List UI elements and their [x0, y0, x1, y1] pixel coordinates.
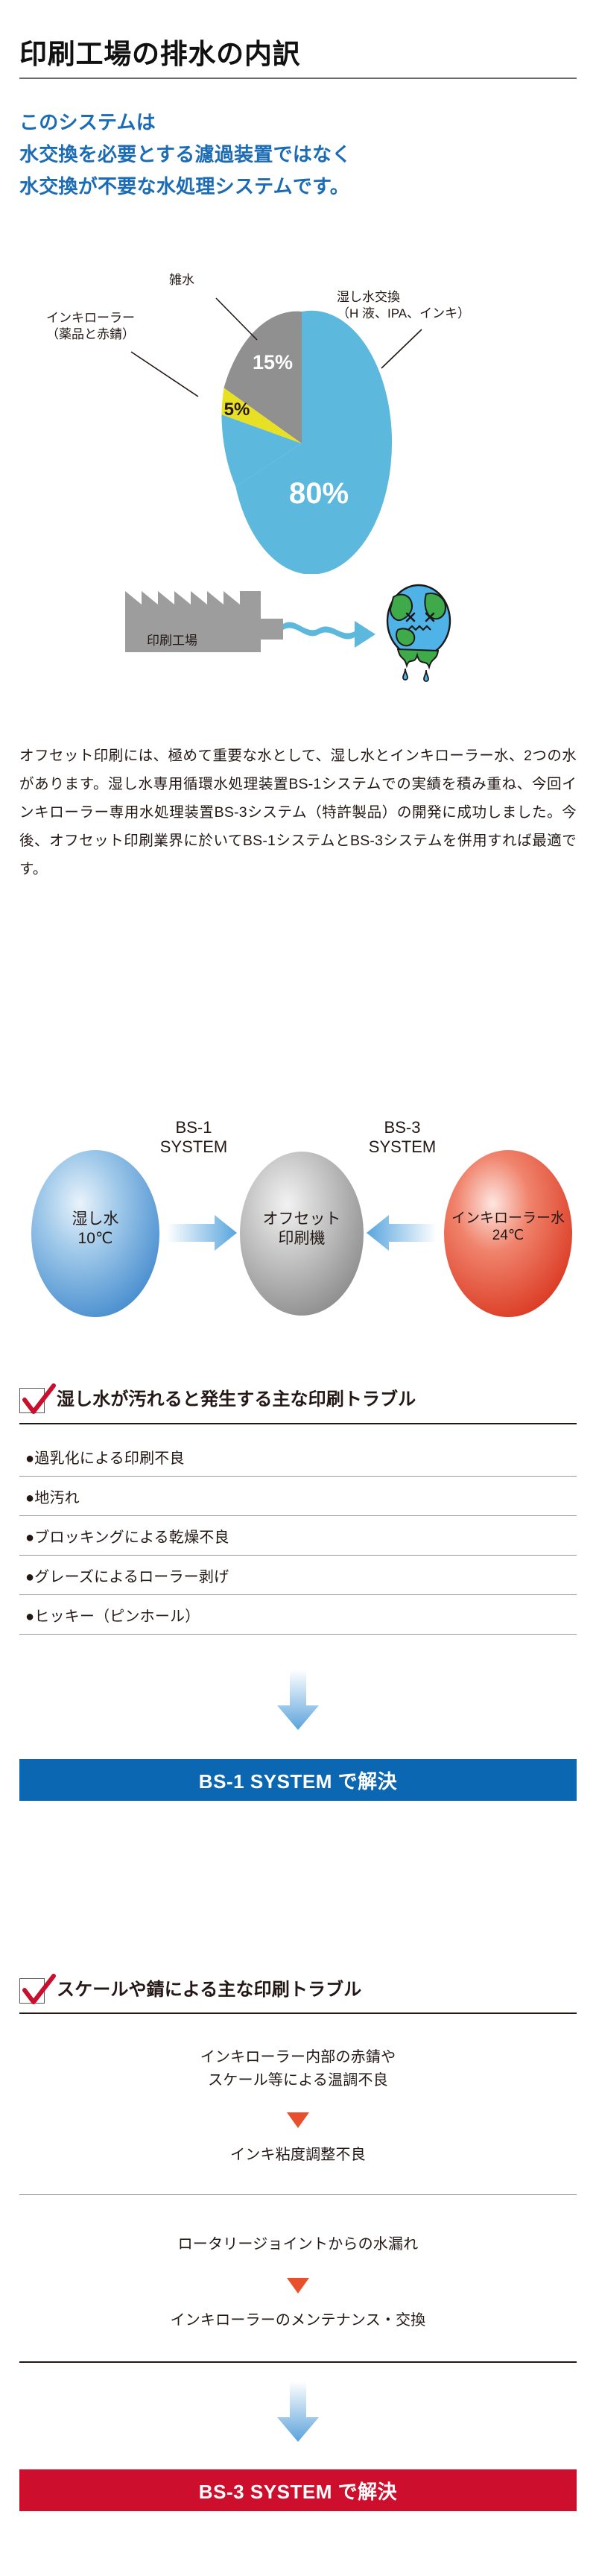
- leader-line-yellow: [131, 352, 198, 397]
- table-row: ●過乳化による印刷不良: [19, 1437, 577, 1477]
- intro-line-3: 水交換が不要な水処理システムです。: [19, 174, 577, 200]
- scale-flow-step-2: ロータリージョイントからの水漏れ: [0, 2233, 596, 2256]
- pie-label-ink-roller: インキローラー （薬品と赤錆）: [46, 310, 135, 343]
- bs1-system-caption: BS-1 SYSTEM: [149, 1118, 238, 1157]
- scale-section-heading: スケールや錆による主な印刷トラブル: [10, 1974, 577, 2008]
- intro-line-2: 水交換を必要とする濾過装置ではなく: [19, 142, 577, 168]
- red-triangle-icon: [287, 2112, 309, 2129]
- pie-label-ink-roller-line1: インキローラー: [46, 310, 135, 326]
- scale-flow-step-1: インキ粘度調整不良: [0, 2144, 596, 2167]
- node-offset-press: [240, 1152, 364, 1316]
- pie-label-zassui: 雑水: [169, 272, 194, 288]
- melting-earth-icon: [387, 585, 450, 681]
- damp-item-2: ●ブロッキングによる乾燥不良: [25, 1525, 229, 1547]
- down-arrow-icon: [276, 2381, 320, 2443]
- intro-line-1: このシステムは: [19, 110, 577, 136]
- scale-flow-divider: [19, 2194, 577, 2195]
- red-triangle-icon: [287, 2278, 309, 2294]
- scale-flow-step-3: インキローラーのメンテナンス・交換: [0, 2309, 596, 2332]
- check-mark-icon: [18, 1383, 60, 1416]
- header-divider: [19, 78, 577, 79]
- arrow-left-icon: [367, 1215, 437, 1251]
- damp-item-4: ●ヒッキー（ピンホール）: [25, 1604, 200, 1626]
- scale-section-bottom-divider: [19, 2361, 577, 2363]
- damp-heading-divider: [19, 1423, 577, 1424]
- damp-item-1: ●地汚れ: [25, 1486, 80, 1507]
- table-row: ●地汚れ: [19, 1477, 577, 1516]
- body-paragraph: オフセット印刷には、極めて重要な水として、湿し水とインキローラー水、2つの水があ…: [19, 742, 577, 883]
- node-damping-water: [31, 1150, 159, 1317]
- pie-label-damping-water-line2: （H 液、IPA、インキ）: [337, 306, 470, 322]
- page-title: 印刷工場の排水の内訳: [19, 39, 577, 69]
- wavy-water-arrow-icon: [283, 621, 375, 648]
- pie-value-yellow: 5%: [224, 400, 250, 420]
- page-header: 印刷工場の排水の内訳: [19, 39, 577, 79]
- damp-item-0: ●過乳化による印刷不良: [25, 1446, 185, 1468]
- pie-value-gray: 15%: [253, 351, 293, 373]
- pie-label-ink-roller-line2: （薬品と赤錆）: [46, 326, 135, 343]
- infographic-page: 印刷工場の排水の内訳 このシステムは 水交換を必要とする濾過装置ではなく 水交換…: [0, 0, 596, 2576]
- table-row: ●グレーズによるローラー剥げ: [19, 1556, 577, 1595]
- leader-line-gray: [216, 298, 257, 340]
- factory-earth-svg: [0, 578, 596, 682]
- table-row: ●ヒッキー（ピンホール）: [19, 1595, 577, 1635]
- system-diagram-svg: [0, 1066, 596, 1334]
- pie-chart-block: 15% 5% 80% 雑水 インキローラー （薬品と赤錆） 湿し水交換 （H 液…: [0, 268, 596, 574]
- damp-item-3: ●グレーズによるローラー剥げ: [25, 1565, 229, 1586]
- factory-earth-block: [0, 578, 596, 682]
- arrow-right-icon: [167, 1215, 237, 1251]
- pie-label-damping-water-line1: 湿し水交換: [337, 289, 470, 306]
- bs1-solution-banner[interactable]: BS-1 SYSTEM で解決: [19, 1759, 577, 1801]
- scale-section-title: スケールや錆による主な印刷トラブル: [57, 1978, 361, 2002]
- bs3-solution-banner-label: BS-3 SYSTEM で解決: [199, 2477, 397, 2504]
- system-diagram: BS-1 SYSTEM BS-3 SYSTEM 湿し水 10℃ オフセット 印刷…: [0, 1066, 596, 1334]
- scale-flow-step-0: インキローラー内部の赤錆や スケール等による温調不良: [0, 2046, 596, 2092]
- pie-label-damping-water: 湿し水交換 （H 液、IPA、インキ）: [337, 289, 470, 322]
- damp-section-title: 湿し水が汚れると発生する主な印刷トラブル: [57, 1388, 416, 1412]
- factory-label: 印刷工場: [147, 630, 197, 648]
- damp-section-heading: 湿し水が汚れると発生する主な印刷トラブル: [10, 1383, 577, 1418]
- scale-heading-divider: [19, 2012, 577, 2014]
- bs1-solution-banner-label: BS-1 SYSTEM で解決: [199, 1767, 397, 1794]
- node-ink-roller-water: [444, 1150, 572, 1317]
- intro-block: このシステムは 水交換を必要とする濾過装置ではなく 水交換が不要な水処理システム…: [19, 110, 577, 206]
- pie-value-blue: 80%: [289, 477, 349, 510]
- table-row: ●ブロッキングによる乾燥不良: [19, 1516, 577, 1556]
- check-mark-icon: [18, 1974, 60, 2007]
- bs3-solution-banner[interactable]: BS-3 SYSTEM で解決: [19, 2469, 577, 2511]
- bs3-system-caption: BS-3 SYSTEM: [358, 1118, 447, 1157]
- down-arrow-icon: [276, 1670, 320, 1731]
- leader-line-blue: [381, 329, 422, 368]
